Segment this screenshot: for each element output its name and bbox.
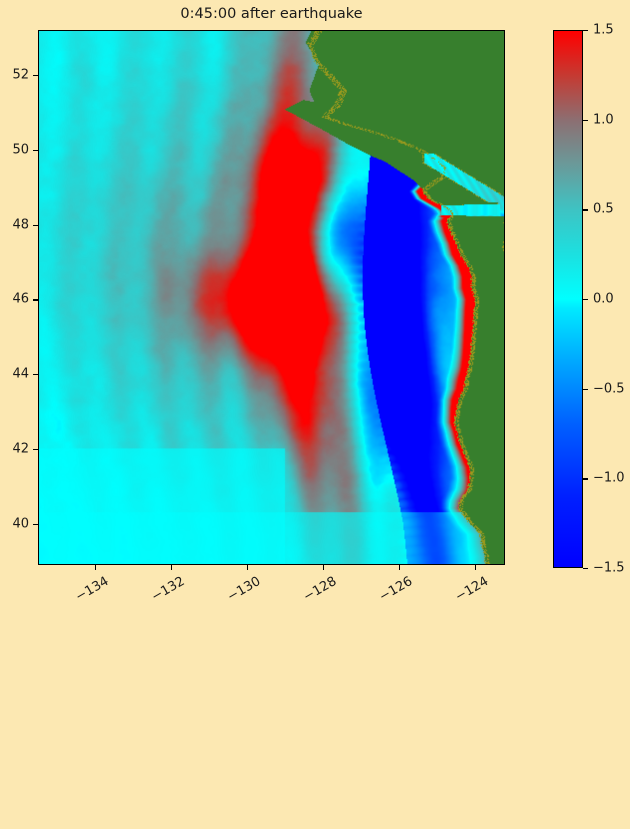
y-axis-label: 42 bbox=[0, 442, 29, 457]
tsunami-figure: 0:45:00 after earthquake 40424446485052−… bbox=[0, 0, 630, 615]
y-axis-label: 50 bbox=[0, 142, 29, 157]
colorbar-tick bbox=[583, 120, 588, 121]
colorbar-label: 0.0 bbox=[593, 292, 614, 307]
x-axis-label: −128 bbox=[44, 574, 339, 753]
colorbar-label: 0.5 bbox=[593, 202, 614, 217]
x-axis-label: −126 bbox=[55, 574, 416, 791]
y-axis-label: 44 bbox=[0, 367, 29, 382]
y-axis-label: 52 bbox=[0, 67, 29, 82]
y-axis-tick bbox=[33, 225, 38, 226]
colorbar-label: 1.0 bbox=[593, 112, 614, 127]
y-axis-tick bbox=[33, 299, 38, 300]
x-axis-tick bbox=[95, 565, 96, 570]
y-axis-tick bbox=[33, 75, 38, 76]
y-axis-tick bbox=[33, 150, 38, 151]
x-axis-tick bbox=[171, 565, 172, 570]
y-axis-tick bbox=[33, 524, 38, 525]
colorbar-label: 1.5 bbox=[593, 23, 614, 38]
colorbar-label: −1.5 bbox=[593, 561, 625, 576]
y-axis-label: 46 bbox=[0, 292, 29, 307]
colorbar-tick bbox=[583, 209, 588, 210]
colorbar-tick bbox=[583, 389, 588, 390]
page-title: 0:45:00 after earthquake bbox=[38, 4, 505, 24]
x-axis-tick bbox=[247, 565, 248, 570]
y-axis-label: 48 bbox=[0, 217, 29, 232]
x-axis-tick bbox=[475, 565, 476, 570]
colorbar-label: −0.5 bbox=[593, 381, 625, 396]
x-axis-tick bbox=[399, 565, 400, 570]
tsunami-heatmap-canvas[interactable] bbox=[39, 31, 504, 564]
colorbar[interactable] bbox=[553, 30, 583, 568]
colorbar-label: −1.0 bbox=[593, 471, 625, 486]
y-axis-tick bbox=[33, 374, 38, 375]
y-axis-label: 40 bbox=[0, 516, 29, 531]
y-axis-tick bbox=[33, 449, 38, 450]
map-axes[interactable] bbox=[38, 30, 505, 565]
colorbar-tick bbox=[583, 478, 588, 479]
x-axis-tick bbox=[323, 565, 324, 570]
colorbar-gradient bbox=[554, 31, 582, 567]
colorbar-tick bbox=[583, 299, 588, 300]
colorbar-tick bbox=[583, 30, 588, 31]
colorbar-tick bbox=[583, 568, 588, 569]
